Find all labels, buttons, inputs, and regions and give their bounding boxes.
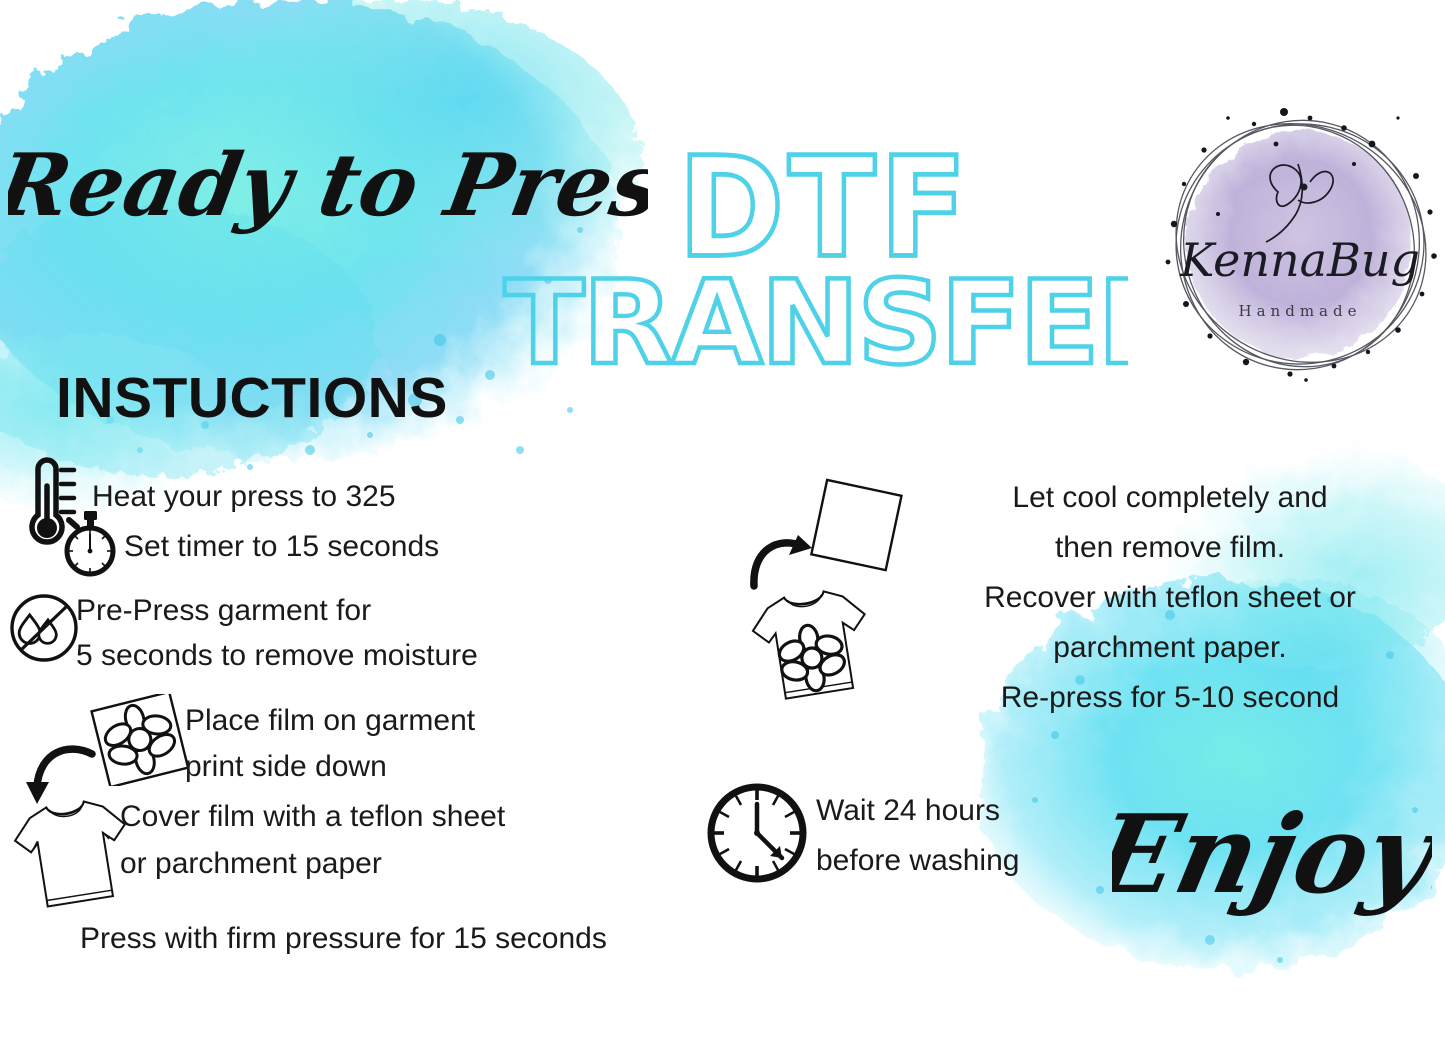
step-press-text: Press with firm pressure for 15 seconds [80,917,607,960]
step-cover-film-text: Cover film with a teflon sheet or parchm… [120,793,505,887]
closing-script-text: Enjoy! [1112,790,1432,918]
tshirt-with-flower-icon [744,580,878,712]
page-title: INSTUCTIONS [56,365,448,431]
logo-tagline: Handmade [1239,302,1362,320]
clock-icon [702,778,812,888]
no-moisture-icon [8,592,80,664]
dtf-title-line2: TRANSFERS [504,256,1128,378]
stopwatch-icon [56,508,122,578]
dtf-instructions-poster: Ready to Press DTF TRANSFERS [0,0,1445,1061]
step-cool-peel-text: Let cool completely and then remove film… [930,473,1410,723]
step-heat-text: Heat your press to 325 [92,475,396,518]
logo-brand-name: KennaBug [1179,233,1420,287]
step-timer-text: Set timer to 15 seconds [124,525,439,568]
step-wait-wash-text: Wait 24 hours before washing [816,786,1019,886]
tshirt-icon [6,790,138,920]
step-place-film-text: Place film on garment print side down [185,698,475,790]
dtf-transfers-title: DTF TRANSFERS [498,128,1128,378]
peel-film-sheet-icon [806,477,906,577]
kennabug-logo: KennaBug Handmade [1158,104,1443,384]
closing-script: Enjoy! [1112,780,1432,925]
step-prepress-text: Pre-Press garment for 5 seconds to remov… [76,588,478,678]
